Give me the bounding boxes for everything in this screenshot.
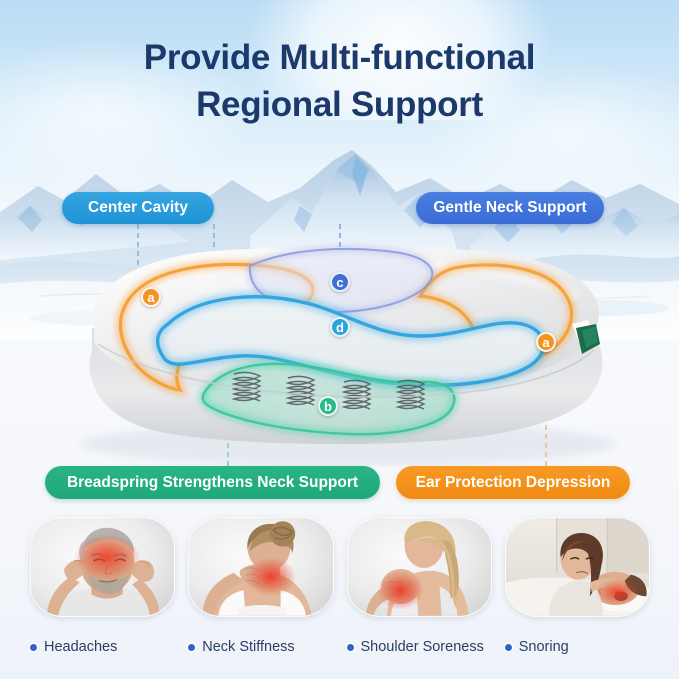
caption-neck-stiffness: Neck Stiffness (188, 633, 333, 661)
caption-snoring: Snoring (505, 633, 650, 661)
bullet-dot-icon (505, 644, 512, 651)
symptom-card-headaches[interactable] (30, 517, 175, 617)
symptom-card-shoulder-soreness[interactable] (347, 517, 492, 617)
snoring-photo (506, 518, 649, 616)
caption-label: Snoring (519, 639, 569, 655)
badge-gentle-neck-support[interactable]: Gentle Neck Support (416, 192, 604, 224)
marker-b: b (318, 396, 338, 416)
caption-headaches: Headaches (30, 633, 175, 661)
headache-photo (31, 518, 174, 616)
shoulder-soreness-photo (348, 518, 491, 616)
bullet-dot-icon (347, 644, 354, 651)
pain-highlight (246, 557, 297, 596)
pain-highlight (595, 579, 638, 606)
symptom-caption-list: Headaches Neck Stiffness Shoulder Sorene… (30, 633, 650, 661)
caption-label: Neck Stiffness (202, 639, 294, 655)
symptom-card-snoring[interactable] (505, 517, 650, 617)
bullet-dot-icon (188, 644, 195, 651)
pain-highlight (74, 534, 140, 581)
badge-center-cavity[interactable]: Center Cavity (62, 192, 214, 224)
marker-d: d (330, 317, 350, 337)
neck-stiffness-photo (189, 518, 332, 616)
marker-a-right: a (536, 332, 556, 352)
symptom-card-list (30, 517, 650, 617)
caption-shoulder-soreness: Shoulder Soreness (347, 633, 492, 661)
symptom-card-neck-stiffness[interactable] (188, 517, 333, 617)
badge-ear-protection[interactable]: Ear Protection Depression (396, 466, 630, 499)
title-line-2: Regional Support (0, 81, 679, 128)
marker-c: c (330, 272, 350, 292)
badge-breadspring[interactable]: Breadspring Strengthens Neck Support (45, 466, 380, 499)
caption-label: Headaches (44, 639, 117, 655)
marker-a-left: a (141, 287, 161, 307)
title-line-1: Provide Multi-functional (0, 34, 679, 81)
infographic-page: Provide Multi-functional Regional Suppor… (0, 0, 679, 679)
pain-highlight (377, 571, 424, 610)
caption-label: Shoulder Soreness (361, 639, 484, 655)
bullet-dot-icon (30, 644, 37, 651)
page-title: Provide Multi-functional Regional Suppor… (0, 34, 679, 128)
